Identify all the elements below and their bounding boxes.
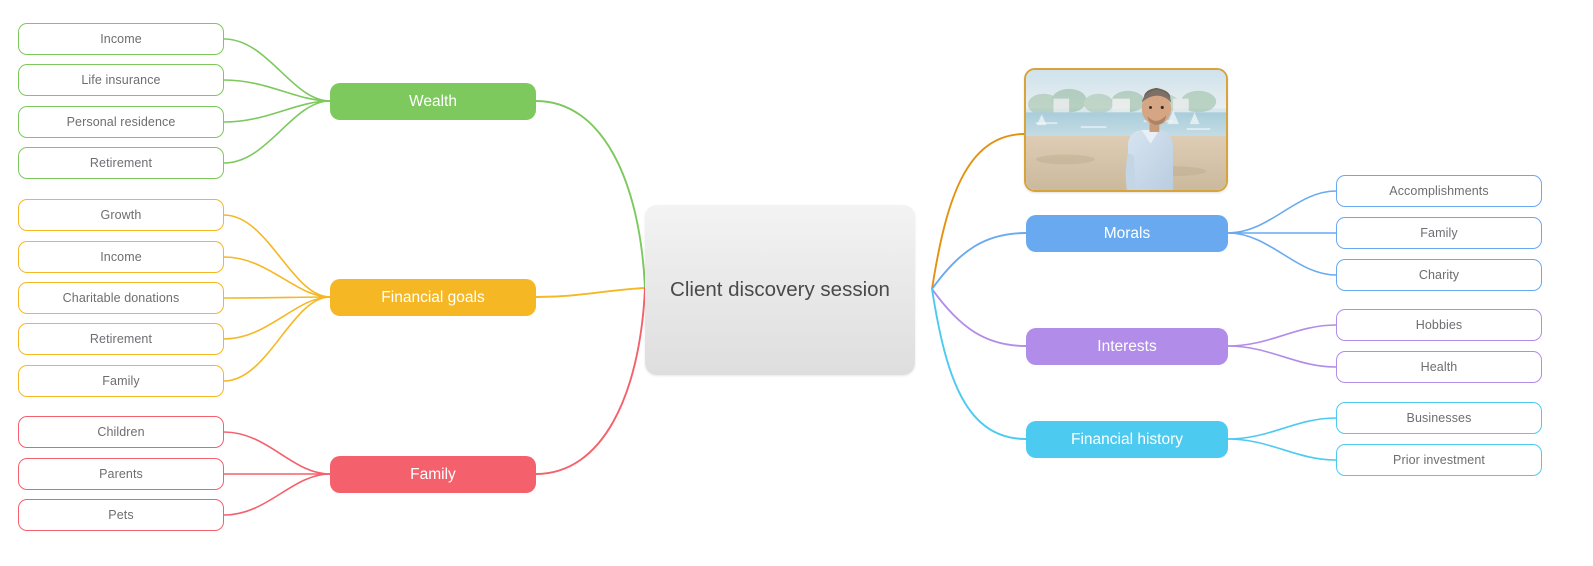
leaf-node-family-goals[interactable]: Family (18, 365, 224, 397)
leaf-node-retirement-goals[interactable]: Retirement (18, 323, 224, 355)
leaf-node-charity[interactable]: Charity (1336, 259, 1542, 291)
leaf-node-income-goals[interactable]: Income (18, 241, 224, 273)
leaf-node-parents[interactable]: Parents (18, 458, 224, 490)
node-label: Growth (101, 208, 142, 222)
leaf-node-growth[interactable]: Growth (18, 199, 224, 231)
branch-node-wealth[interactable]: Wealth (330, 83, 536, 120)
root-node-client-discovery-session[interactable]: Client discovery session (645, 205, 915, 375)
node-label: Life insurance (81, 73, 160, 87)
connectors-family-leaves (224, 432, 330, 515)
client-photo-image (1026, 70, 1226, 190)
connector-root-financial-goals (536, 288, 645, 297)
leaf-node-prior-investment[interactable]: Prior investment (1336, 444, 1542, 476)
node-label: Family (410, 466, 456, 484)
leaf-node-businesses[interactable]: Businesses (1336, 402, 1542, 434)
leaf-node-retirement-wealth[interactable]: Retirement (18, 147, 224, 179)
node-label: Accomplishments (1389, 184, 1488, 198)
branch-node-financial-history[interactable]: Financial history (1026, 421, 1228, 458)
node-label: Charity (1419, 268, 1459, 282)
branch-node-morals[interactable]: Morals (1026, 215, 1228, 252)
node-label: Personal residence (67, 115, 176, 129)
node-label: Parents (99, 467, 143, 481)
node-label: Retirement (90, 332, 152, 346)
image-node-client-photo[interactable] (1024, 68, 1228, 192)
mindmap-canvas: Income Life insurance Personal residence… (0, 0, 1593, 566)
node-label: Family (102, 374, 139, 388)
node-label: Businesses (1407, 411, 1472, 425)
node-label: Prior investment (1393, 453, 1485, 467)
node-label: Charitable donations (63, 291, 180, 305)
leaf-node-pets[interactable]: Pets (18, 499, 224, 531)
connectors-morals-leaves (1228, 191, 1336, 275)
connector-root-financial-history (932, 289, 1026, 439)
branch-node-financial-goals[interactable]: Financial goals (330, 279, 536, 316)
leaf-node-life-insurance[interactable]: Life insurance (18, 64, 224, 96)
node-label: Income (100, 250, 142, 264)
node-label: Hobbies (1416, 318, 1463, 332)
connectors-financial-goals-leaves (224, 215, 330, 381)
connector-root-morals (932, 233, 1026, 289)
leaf-node-family-morals[interactable]: Family (1336, 217, 1542, 249)
leaf-node-charitable-donations[interactable]: Charitable donations (18, 282, 224, 314)
connector-root-interests (932, 289, 1026, 346)
node-label: Pets (108, 508, 133, 522)
leaf-node-children[interactable]: Children (18, 416, 224, 448)
leaf-node-income-wealth[interactable]: Income (18, 23, 224, 55)
connectors-financial-history-leaves (1228, 418, 1336, 460)
branch-node-family[interactable]: Family (330, 456, 536, 493)
node-label: Children (97, 425, 144, 439)
connectors-wealth-leaves (224, 39, 330, 163)
leaf-node-hobbies[interactable]: Hobbies (1336, 309, 1542, 341)
node-label: Wealth (409, 93, 457, 111)
leaf-node-accomplishments[interactable]: Accomplishments (1336, 175, 1542, 207)
connector-root-photo (932, 134, 1024, 289)
leaf-node-personal-residence[interactable]: Personal residence (18, 106, 224, 138)
connector-root-family (536, 288, 645, 474)
branch-node-interests[interactable]: Interests (1026, 328, 1228, 365)
leaf-node-health[interactable]: Health (1336, 351, 1542, 383)
connectors-interests-leaves (1228, 325, 1336, 367)
root-node-label: Client discovery session (670, 278, 890, 302)
node-label: Financial history (1071, 431, 1183, 449)
connector-root-wealth (536, 101, 645, 288)
node-label: Health (1421, 360, 1458, 374)
node-label: Retirement (90, 156, 152, 170)
node-label: Financial goals (381, 289, 484, 307)
node-label: Morals (1104, 225, 1151, 243)
node-label: Family (1420, 226, 1457, 240)
node-label: Income (100, 32, 142, 46)
node-label: Interests (1097, 338, 1156, 356)
